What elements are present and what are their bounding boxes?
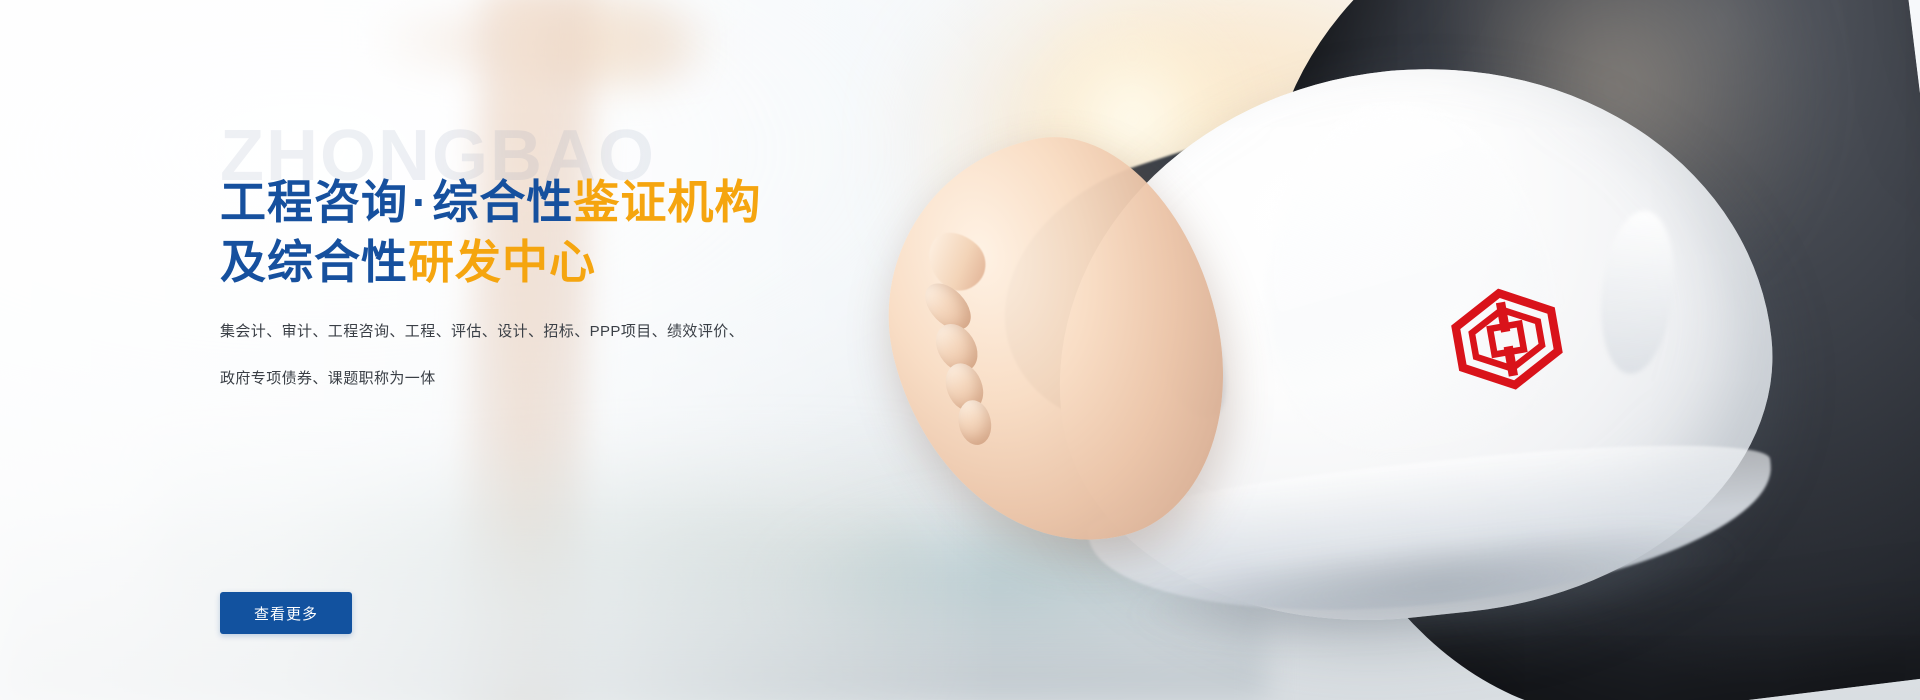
description-line-2: 政府专项债券、课题职称为一体: [220, 355, 820, 402]
headline-separator-dot: ·: [408, 176, 432, 228]
headline-line2-accent: 研发中心: [408, 236, 596, 288]
zhongbao-hexagon-logo-icon: [1442, 278, 1570, 400]
headline-line1-segment-2: 综合性: [432, 176, 573, 228]
helmet-logo: 中宝工程管理: [1360, 167, 1652, 510]
description-line-1: 集会计、审计、工程咨询、工程、评估、设计、招标、PPP项目、绩效评价、: [220, 308, 820, 355]
headline-line-2: 及综合性研发中心: [220, 232, 920, 292]
banner-content: ZHONGBAO 工程咨询·综合性鉴证机构 及综合性研发中心 集会计、审计、工程…: [220, 0, 980, 700]
headline-line1-accent: 鉴证机构: [573, 176, 761, 228]
hero-banner: 中宝工程管理 ZHONGBAO 工程咨询·综: [0, 0, 1920, 700]
headline-line-1: 工程咨询·综合性鉴证机构: [220, 172, 920, 232]
headline-line2-segment-1: 及综合性: [220, 236, 408, 288]
headline-line1-segment-1: 工程咨询: [220, 176, 408, 228]
headline: 工程咨询·综合性鉴证机构 及综合性研发中心: [220, 172, 920, 292]
view-more-button[interactable]: 查看更多: [220, 592, 352, 634]
banner-description: 集会计、审计、工程咨询、工程、评估、设计、招标、PPP项目、绩效评价、 政府专项…: [220, 308, 820, 402]
